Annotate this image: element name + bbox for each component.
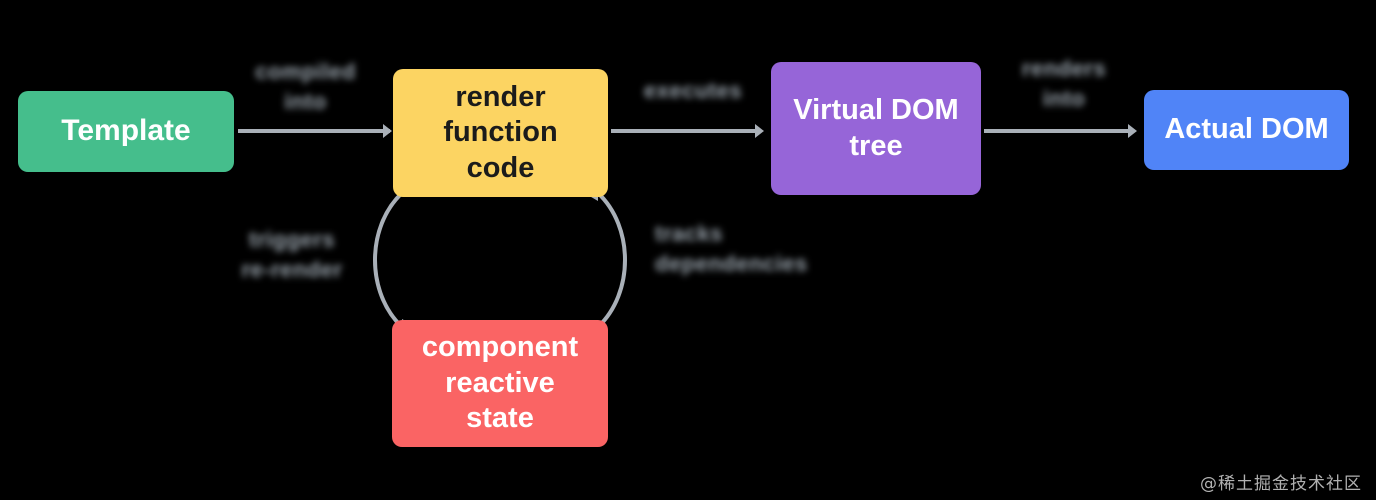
edge-label-compiled-into: compiled into xyxy=(243,57,368,116)
node-template[interactable]: Template xyxy=(18,91,234,172)
edge-template-to-render xyxy=(238,129,390,133)
watermark: @稀土掘金技术社区 xyxy=(1200,469,1362,494)
node-render-function-code[interactable]: render function code xyxy=(393,69,608,197)
node-template-label: Template xyxy=(61,113,190,150)
node-render-label: render function code xyxy=(443,80,557,186)
node-state-label: component reactive state xyxy=(422,330,578,436)
node-vdom-label: Virtual DOM tree xyxy=(793,93,958,164)
edge-label-renders-into: renders into xyxy=(1003,54,1125,113)
edge-state-to-render-curve xyxy=(598,193,625,327)
node-component-reactive-state[interactable]: component reactive state xyxy=(392,320,608,447)
edge-label-triggers-re-render: triggers re-render xyxy=(224,225,360,284)
node-actualdom-label: Actual DOM xyxy=(1164,112,1328,147)
node-virtual-dom-tree[interactable]: Virtual DOM tree xyxy=(771,62,981,195)
arrowhead-into-actualdom xyxy=(1128,124,1137,138)
edge-label-executes: executes xyxy=(634,76,752,106)
edge-render-to-state-curve xyxy=(375,193,402,327)
edge-label-tracks-dependencies: tracks dependencies xyxy=(655,219,835,278)
edge-vdom-to-actualdom xyxy=(984,129,1132,133)
arrowhead-into-render xyxy=(383,124,392,138)
edge-render-to-vdom xyxy=(611,129,759,133)
diagram-canvas: Template render function code Virtual DO… xyxy=(0,0,1376,500)
arrowhead-into-vdom xyxy=(755,124,764,138)
node-actual-dom[interactable]: Actual DOM xyxy=(1144,90,1349,170)
curved-edges-group xyxy=(340,185,660,335)
